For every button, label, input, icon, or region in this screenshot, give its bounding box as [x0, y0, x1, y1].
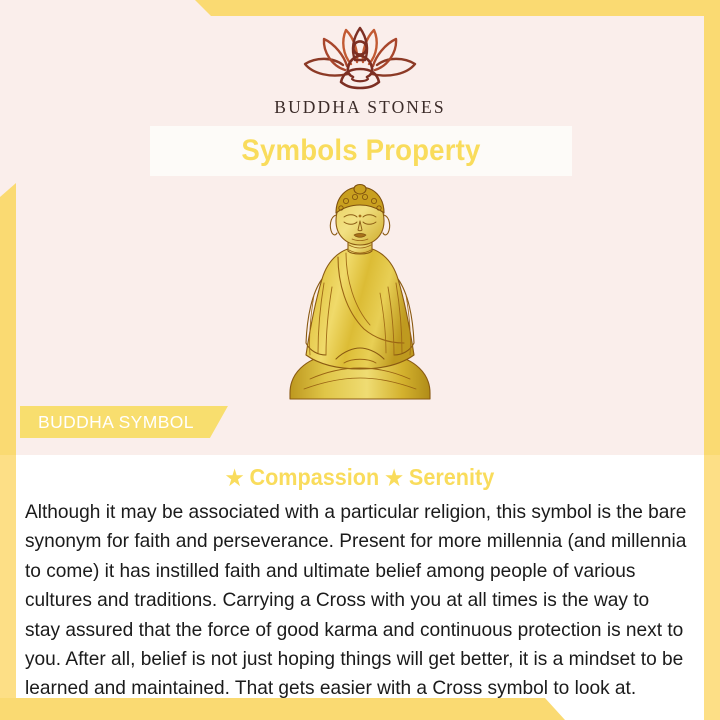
golden-buddha-statue — [276, 183, 444, 405]
brand-wordmark: BUDDHA STONES — [0, 97, 720, 118]
title-banner: Symbols Property — [150, 126, 572, 176]
brand-logo-block: BUDDHA STONES — [0, 24, 720, 118]
decoration-right-bar-lower — [704, 455, 720, 720]
decoration-left-bar-lower — [0, 455, 16, 720]
badge-label: BUDDHA SYMBOL — [38, 412, 194, 433]
star-icon-left: ★ — [226, 467, 244, 490]
hero-image — [0, 183, 720, 405]
keyword-serenity: Serenity — [409, 464, 494, 490]
keyword-compassion: Compassion — [249, 464, 379, 490]
lotus-meditation-icon — [285, 24, 435, 94]
subtitle-keywords: ★ Compassion ★ Serenity — [22, 464, 699, 491]
star-icon-right: ★ — [385, 467, 403, 490]
body-paragraph: Although it may be associated with a par… — [25, 498, 687, 704]
poster-canvas: BUDDHA STONES Symbols Property — [0, 0, 720, 720]
page-title: Symbols Property — [241, 134, 480, 168]
status-badge: BUDDHA SYMBOL — [20, 406, 228, 438]
